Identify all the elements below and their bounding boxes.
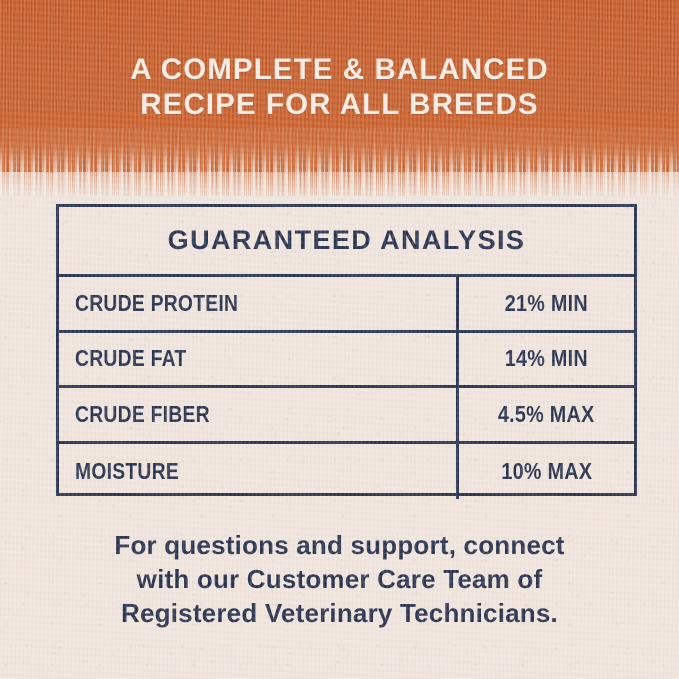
table-row: CRUDE PROTEIN 21% MIN	[59, 277, 634, 333]
banner-paint-flecks	[0, 140, 679, 196]
nutrient-label-cell: CRUDE PROTEIN	[59, 277, 459, 330]
banner-headline-line-1: A COMPLETE & BALANCED	[0, 52, 679, 87]
nutrient-label: MOISTURE	[75, 458, 179, 485]
nutrient-label-cell: CRUDE FAT	[59, 333, 459, 386]
nutrient-label: CRUDE FIBER	[75, 401, 210, 428]
guaranteed-analysis-rows: CRUDE PROTEIN 21% MIN CRUDE FAT 14% MIN …	[59, 277, 634, 499]
nutrient-value-cell: 21% MIN	[459, 277, 634, 330]
nutrient-label-cell: CRUDE FIBER	[59, 388, 459, 441]
product-info-panel: A COMPLETE & BALANCED RECIPE FOR ALL BRE…	[0, 0, 679, 679]
support-note-line-2: with our Customer Care Team of	[0, 562, 679, 596]
nutrient-value-cell: 4.5% MAX	[459, 388, 634, 441]
guaranteed-analysis-heading: GUARANTEED ANALYSIS	[59, 207, 634, 277]
banner-headline: A COMPLETE & BALANCED RECIPE FOR ALL BRE…	[0, 52, 679, 122]
support-note: For questions and support, connect with …	[0, 528, 679, 630]
nutrient-value-cell: 14% MIN	[459, 333, 634, 386]
table-row: CRUDE FAT 14% MIN	[59, 333, 634, 389]
table-row: MOISTURE 10% MAX	[59, 444, 634, 500]
guaranteed-analysis-table: GUARANTEED ANALYSIS CRUDE PROTEIN 21% MI…	[56, 204, 637, 496]
nutrient-label: CRUDE FAT	[75, 345, 186, 372]
table-row: CRUDE FIBER 4.5% MAX	[59, 388, 634, 444]
support-note-line-1: For questions and support, connect	[0, 528, 679, 562]
banner-headline-line-2: RECIPE FOR ALL BREEDS	[0, 87, 679, 122]
nutrient-value: 14% MIN	[505, 345, 588, 372]
nutrient-label-cell: MOISTURE	[59, 444, 459, 500]
nutrient-value: 21% MIN	[505, 290, 588, 317]
nutrient-value: 4.5% MAX	[498, 401, 595, 428]
nutrient-label: CRUDE PROTEIN	[75, 290, 238, 317]
support-note-line-3: Registered Veterinary Technicians.	[0, 596, 679, 630]
nutrient-value-cell: 10% MAX	[459, 444, 634, 500]
nutrient-value: 10% MAX	[501, 458, 592, 485]
